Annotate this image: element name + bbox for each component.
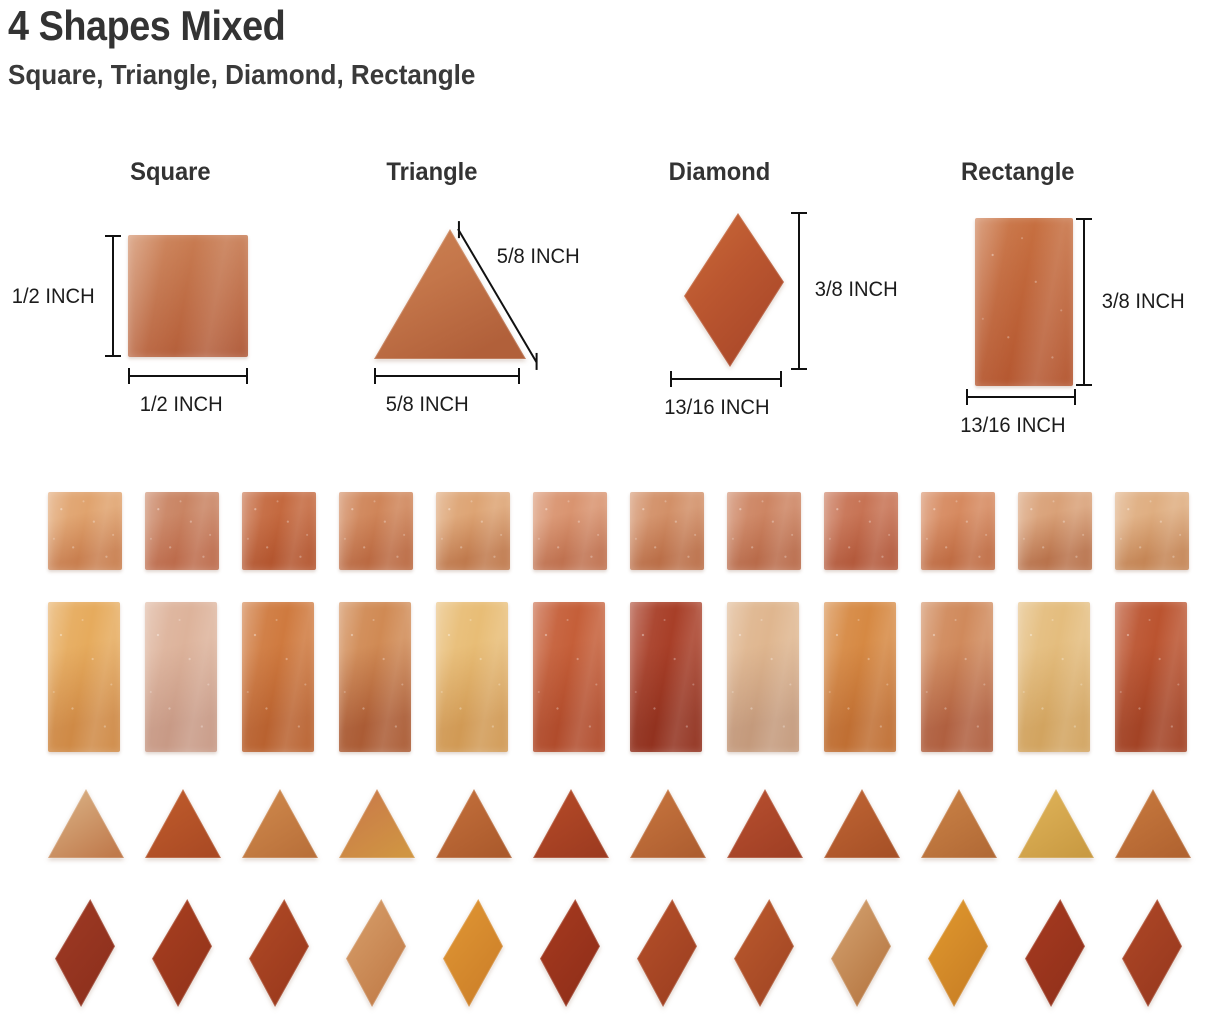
speck-overlay [145,492,219,570]
diamond-tile [149,897,215,1009]
spec-diamond-sample [680,210,790,370]
triangle-tile-body [919,787,999,861]
speck-overlay [339,602,411,752]
speck-overlay [242,492,316,570]
square-tile-body [1018,492,1092,570]
square-height-text: 1/2 INCH [12,285,95,309]
dim-cap-end [536,353,538,370]
square-tile-body [727,492,801,570]
rectangle-tile-body [1018,602,1090,752]
speck-overlay [145,602,217,752]
speck-overlay [436,602,508,752]
spec-rectangle-sample [975,218,1073,386]
triangle-tile [1016,787,1096,861]
triangle-tile [143,787,223,861]
rectangle-tile-body [824,602,896,752]
triangle-tile [628,787,708,861]
rectangle-tile [48,602,120,752]
square-tile [145,492,219,570]
header-block: 4 Shapes Mixed Square, Triangle, Diamond… [8,4,511,91]
square-tile [533,492,607,570]
diamond-tile-body [925,897,991,1009]
diamond-tile-body [634,897,700,1009]
triangle-tile [725,787,805,861]
square-tile-body [48,492,122,570]
speck-overlay [533,602,605,752]
square-tile [339,492,413,570]
gloss-overlay [242,492,316,570]
triangle-tile-body [46,787,126,861]
gloss-overlay [436,602,508,752]
square-tile-body [533,492,607,570]
spec-square-sample [128,235,248,357]
page-title: 4 Shapes Mixed [8,4,460,48]
spec-rectangle-label: Rectangle [961,158,1075,187]
diamond-tile [343,897,409,1009]
rectangle-height-text: 3/8 INCH [1102,290,1185,314]
rectangle-tile [339,602,411,752]
rectangle-tile [1018,602,1090,752]
grid-row-triangles [0,785,1205,865]
triangle-tile-body [434,787,514,861]
gloss-overlay [48,602,120,752]
grid-row-rectangles [0,600,1205,760]
square-tile-body [242,492,316,570]
triangle-tile-body [143,787,223,861]
square-tile [242,492,316,570]
gloss-overlay [128,235,248,357]
speck-overlay [1115,492,1189,570]
rectangle-tile-body [727,602,799,752]
speck-overlay [48,602,120,752]
gloss-overlay [242,602,314,752]
speck-overlay [48,492,122,570]
page-subtitle: Square, Triangle, Diamond, Rectangle [8,60,475,91]
triangle-tile-body [1016,787,1096,861]
rectangle-tile-body [533,602,605,752]
speck-overlay [975,218,1073,386]
diamond-height-dimension-line [798,212,800,370]
diamond-tile-body [440,897,506,1009]
speck-overlay [1018,492,1092,570]
diamond-tile [634,897,700,1009]
rectangle-tile-body [630,602,702,752]
gloss-overlay [145,602,217,752]
spec-square-label: Square [130,158,211,187]
gloss-overlay [1115,492,1189,570]
square-tile [630,492,704,570]
triangle-tile [919,787,999,861]
rectangle-tile [436,602,508,752]
triangle-width-text: 5/8 INCH [386,393,469,417]
rectangle-tile-body [242,602,314,752]
triangle-tile-body [822,787,902,861]
rectangle-height-dimension-line [1083,218,1085,386]
rectangle-tile-body [1115,602,1187,752]
square-tile [1115,492,1189,570]
square-tile [727,492,801,570]
rectangle-tile-body [145,602,217,752]
gloss-overlay [630,492,704,570]
square-tile-body [145,492,219,570]
square-tile-body [824,492,898,570]
spec-triangle-label: Triangle [386,158,477,187]
gloss-overlay [727,492,801,570]
triangle-width-dimension-line [374,375,520,377]
gloss-overlay [727,602,799,752]
diamond-tile-body [343,897,409,1009]
diamond-tile-body [149,897,215,1009]
square-tile-body [339,492,413,570]
gloss-overlay [145,492,219,570]
gloss-overlay [48,492,122,570]
speck-overlay [630,492,704,570]
speck-overlay [1115,602,1187,752]
speck-overlay [339,492,413,570]
diamond-tile-body [731,897,797,1009]
speck-overlay [727,492,801,570]
speck-overlay [921,602,993,752]
rectangle-tile-body [339,602,411,752]
gloss-overlay [533,602,605,752]
triangle-tile [240,787,320,861]
square-tile [48,492,122,570]
grid-row-diamonds [0,895,1205,1010]
square-width-dimension-line [128,375,248,377]
rectangle-tile [727,602,799,752]
diamond-tile [537,897,603,1009]
rectangle-width-dimension-line [966,396,1076,398]
diamond-tile-body [1022,897,1088,1009]
square-tile-body [436,492,510,570]
diamond-tile [925,897,991,1009]
speck-overlay [242,602,314,752]
gloss-overlay [824,602,896,752]
rectangle-tile [145,602,217,752]
diamond-tile [246,897,312,1009]
speck-overlay [824,602,896,752]
diamond-tile-body [537,897,603,1009]
rectangle-tile [533,602,605,752]
triangle-tile-body [240,787,320,861]
rectangle-tile-body [921,602,993,752]
diamond-width-text: 13/16 INCH [664,396,769,420]
spec-diamond-label: Diamond [669,158,771,187]
speck-overlay [727,602,799,752]
triangle-tile [822,787,902,861]
diamond-tile-body [1119,897,1185,1009]
triangle-tile-body [531,787,611,861]
diamond-tile-body [52,897,118,1009]
rectangle-tile-body [436,602,508,752]
diamond-tile [52,897,118,1009]
diamond-tile-body [246,897,312,1009]
square-tile-body [630,492,704,570]
gloss-overlay [975,218,1073,386]
rectangle-tile [1115,602,1187,752]
triangle-tile [1113,787,1193,861]
rectangle-tile [630,602,702,752]
gloss-overlay [436,492,510,570]
square-tile [921,492,995,570]
gloss-overlay [921,492,995,570]
diamond-tile [1022,897,1088,1009]
diamond-tile [731,897,797,1009]
triangle-tile [531,787,611,861]
triangle-tile [434,787,514,861]
diamond-height-text: 3/8 INCH [815,278,898,302]
spec-row: Square 1/2 INCH 1/2 INCH Triangle [0,150,1205,460]
rectangle-tile-body [48,602,120,752]
diamond-width-dimension-line [670,378,782,380]
speck-overlay [630,602,702,752]
speck-overlay [436,492,510,570]
rectangle-tile [242,602,314,752]
square-tile-body [1115,492,1189,570]
square-tile [1018,492,1092,570]
diamond-tile [828,897,894,1009]
square-tile [436,492,510,570]
gloss-overlay [824,492,898,570]
gloss-overlay [630,602,702,752]
square-width-text: 1/2 INCH [140,393,223,417]
gloss-overlay [1018,602,1090,752]
diamond-tile-body [828,897,894,1009]
diamond-tile [440,897,506,1009]
triangle-tile-body [725,787,805,861]
triangle-tile-body [628,787,708,861]
triangle-tile [337,787,417,861]
gloss-overlay [339,492,413,570]
dim-cap-start [458,221,460,238]
gloss-overlay [1115,602,1187,752]
rectangle-width-text: 13/16 INCH [960,414,1065,438]
speck-overlay [1018,602,1090,752]
grid-row-squares [0,488,1205,588]
speck-overlay [824,492,898,570]
gloss-overlay [1018,492,1092,570]
rectangle-tile [921,602,993,752]
speck-overlay [533,492,607,570]
triangle-tile [46,787,126,861]
square-tile-body [921,492,995,570]
square-tile [824,492,898,570]
triangle-side-text: 5/8 INCH [497,245,580,269]
rectangle-tile [824,602,896,752]
gloss-overlay [533,492,607,570]
diamond-tile [1119,897,1185,1009]
triangle-tile-body [1113,787,1193,861]
square-height-dimension-line [112,235,114,357]
triangle-tile-body [337,787,417,861]
speck-overlay [921,492,995,570]
gloss-overlay [921,602,993,752]
gloss-overlay [339,602,411,752]
